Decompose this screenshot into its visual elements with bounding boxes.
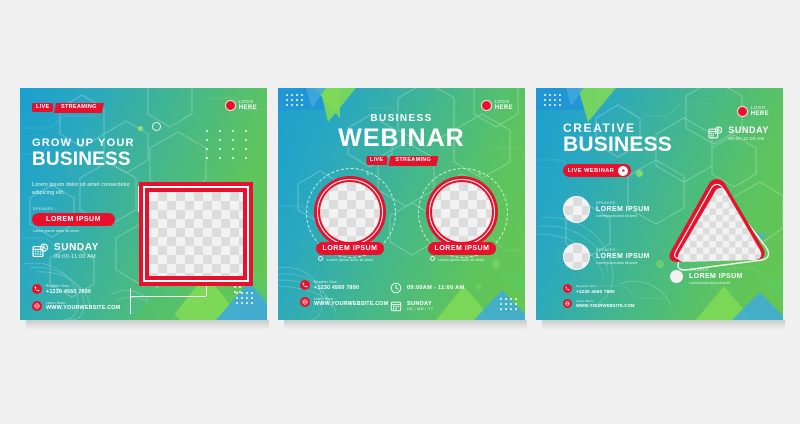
contact-value-website: WWW.YOURWEBSITE.COM (576, 303, 635, 308)
card2-speaker-2-label: SPEAKER : (388, 236, 525, 240)
card3-headline: BUSINESS (563, 134, 672, 155)
photo-placeholder[interactable] (149, 192, 243, 276)
live-badge-label: LIVE (32, 103, 53, 113)
dot-accent-decoration (636, 170, 643, 177)
contact-value-website: WWW.YOURWEBSITE.COM (46, 305, 120, 311)
logo-line-2: HERE (751, 111, 769, 117)
logo-placeholder[interactable]: LOGO HERE (225, 100, 257, 111)
logo-line-2: HERE (495, 105, 513, 111)
card1-photo-frame[interactable] (139, 182, 253, 286)
contact-row-website[interactable]: Learn More : WWW.YOURWEBSITE.COM (32, 301, 120, 312)
card2-time-value: 09:00AM - 11:00 AM (407, 285, 464, 291)
live-streaming-badge[interactable]: LIVE STREAMING (32, 102, 103, 113)
contact-row-website[interactable]: Learn More : WWW.YOURWEBSITE.COM (300, 297, 388, 308)
contact-label: Learn More : (314, 297, 388, 301)
contact-label: Learn More : (576, 299, 635, 303)
card2-date-value: SUNDAYDD | MM | YY (407, 301, 434, 311)
card3-contact-list: Register Now : +1230 4560 7890 Learn Mor… (563, 284, 635, 308)
card3-date-day: SUNDAY (728, 126, 769, 135)
card1-date-block: SUNDAY 09:00-11:00 AM (32, 243, 99, 260)
clock-icon (390, 282, 402, 294)
streaming-badge-label: STREAMING (388, 156, 438, 166)
speaker-sub: Lorem ipsum dolor sit amet (596, 214, 650, 218)
contact-row-website[interactable]: Learn More : WWW.YOURWEBSITE.COM (563, 299, 635, 309)
card-shadow-1 (26, 320, 269, 330)
calendar-icon (390, 300, 402, 312)
card2-kicker: BUSINESS (278, 113, 525, 124)
globe-icon (32, 301, 42, 311)
card3-live-webinar-button[interactable]: LIVE WEBINAR (563, 164, 631, 177)
contact-label: Register Now : (576, 284, 615, 288)
card1-speaker-sub: Lorem ipsum dolor sit amet (33, 229, 79, 233)
dot-accent-decoration (656, 260, 664, 268)
poster-template-sheet: LIVE STREAMING LOGO HERE (0, 0, 800, 424)
logo-line-1: LOGO (239, 100, 257, 105)
photo-placeholder[interactable] (432, 182, 492, 242)
speaker-label: SPEAKER : (596, 248, 650, 252)
card1-speaker-label: SPEAKER : (33, 207, 56, 211)
contact-label: Learn More : (46, 301, 120, 305)
speaker-name: LOREM IPSUM (596, 206, 650, 213)
logo-line-1: LOGO (495, 100, 513, 105)
x-mark-decoration: × (478, 172, 482, 178)
streaming-badge-label: STREAMING (54, 103, 104, 113)
contact-label: Register Now : (46, 284, 91, 288)
card1-date-time: 09:00-11:00 AM (54, 254, 99, 260)
card2-schedule-date: SUNDAYDD | MM | YY (390, 300, 434, 312)
card1-speaker-pill[interactable]: LOREM IPSUM (32, 213, 115, 226)
card1-headline: BUSINESS (32, 150, 131, 169)
card3-date-time: 09:00-11:00 AM (728, 136, 769, 141)
card3-speaker-row-2[interactable]: SPEAKER : LOREM IPSUM Lorem ipsum dolor … (563, 243, 650, 270)
logo-line-1: LOGO (751, 106, 769, 111)
dot-accent-decoration (138, 126, 143, 131)
speaker-name: LOREM IPSUM (596, 253, 650, 260)
phone-icon (32, 284, 42, 294)
circle-outline-decoration (152, 122, 161, 131)
card-shadow-3 (542, 320, 785, 330)
play-icon (618, 166, 628, 176)
speaker-label: SPEAKER : (596, 201, 650, 205)
card1-subcopy: Lorem ipsum dolor sit amet consectetur a… (32, 181, 136, 198)
card2-contact-list: Register Now : +1230 4560 7890 Learn Mor… (300, 280, 388, 307)
card1-date-day: SUNDAY (54, 243, 99, 253)
logo-text: LOGO HERE (239, 100, 257, 111)
logo-text: LOGO HERE (495, 100, 513, 111)
dot-accent-decoration (492, 260, 500, 268)
card2-headline: WEBINAR (278, 126, 525, 151)
top-triangles-decoration (566, 88, 648, 122)
calendar-clock-icon (32, 243, 49, 260)
logo-mark-icon (481, 100, 492, 111)
logo-mark-icon (737, 106, 748, 117)
frame-hook-decoration (130, 288, 131, 314)
contact-value-phone: +1230 4560 7890 (314, 285, 359, 291)
bottom-triangles-decoration (398, 274, 525, 320)
card3-date-block: SUNDAY 09:00-11:00 AM (708, 126, 769, 141)
dot-grid-decoration (206, 130, 254, 170)
card1-contact-list: Register Now : +1230 4560 7890 Learn Mor… (32, 284, 120, 311)
dot-accent-decoration (476, 284, 482, 290)
logo-mark-icon (225, 100, 236, 111)
speaker-avatar-placeholder[interactable] (563, 196, 590, 223)
logo-line-2: HERE (239, 105, 257, 111)
logo-text: LOGO HERE (751, 106, 769, 117)
phone-icon (300, 280, 310, 290)
card2-speaker-1-pill[interactable]: LOREM IPSUM (316, 242, 384, 255)
speaker-sub: Lorem ipsum dolor sit amet (596, 261, 650, 265)
card3-live-webinar-label: LIVE WEBINAR (568, 168, 615, 174)
contact-row-register[interactable]: Register Now : +1230 4560 7890 (563, 284, 635, 294)
phone-icon (563, 284, 572, 293)
x-mark-decoration: × (366, 172, 370, 178)
card2-date-format: DD | MM | YY (407, 307, 434, 311)
calendar-clock-icon (708, 126, 723, 141)
globe-icon (563, 299, 572, 308)
card-shadow-2 (284, 320, 527, 330)
card3-photo-frame-triangle[interactable] (664, 176, 774, 286)
contact-value-phone: +1230 4560 7890 (576, 289, 615, 294)
card1-kicker: GROW UP YOUR (32, 137, 135, 149)
logo-placeholder[interactable]: LOGO HERE (481, 100, 513, 111)
card2-schedule-time: 09:00AM - 11:00 AM (390, 282, 464, 294)
contact-value-phone: +1230 4560 7890 (46, 289, 91, 295)
photo-placeholder[interactable] (320, 182, 380, 242)
globe-icon (300, 297, 310, 307)
contact-row-register[interactable]: Register Now : +1230 4560 7890 (300, 280, 388, 291)
card2-speaker-2-sub: Lorem ipsum dolor sit amet (388, 258, 525, 262)
live-badge-label: LIVE (366, 156, 387, 166)
card-business-webinar[interactable]: LOGO HERE BUSINESS WEBINAR LIVE STREAMIN… (278, 88, 525, 320)
contact-label: Register Now : (314, 280, 359, 284)
contact-row-register[interactable]: Register Now : +1230 4560 7890 (32, 284, 120, 295)
card3-speaker-row-1[interactable]: SPEAKER : LOREM IPSUM Lorem ipsum dolor … (563, 196, 650, 223)
frame-hook-decoration (130, 296, 206, 297)
card2-speaker-2-pill[interactable]: LOREM IPSUM (428, 242, 496, 255)
speaker-avatar-placeholder[interactable] (563, 243, 590, 270)
logo-placeholder[interactable]: LOGO HERE (737, 106, 769, 117)
contact-value-website: WWW.YOURWEBSITE.COM (314, 301, 388, 307)
live-streaming-badge[interactable]: LIVE STREAMING (366, 155, 437, 166)
